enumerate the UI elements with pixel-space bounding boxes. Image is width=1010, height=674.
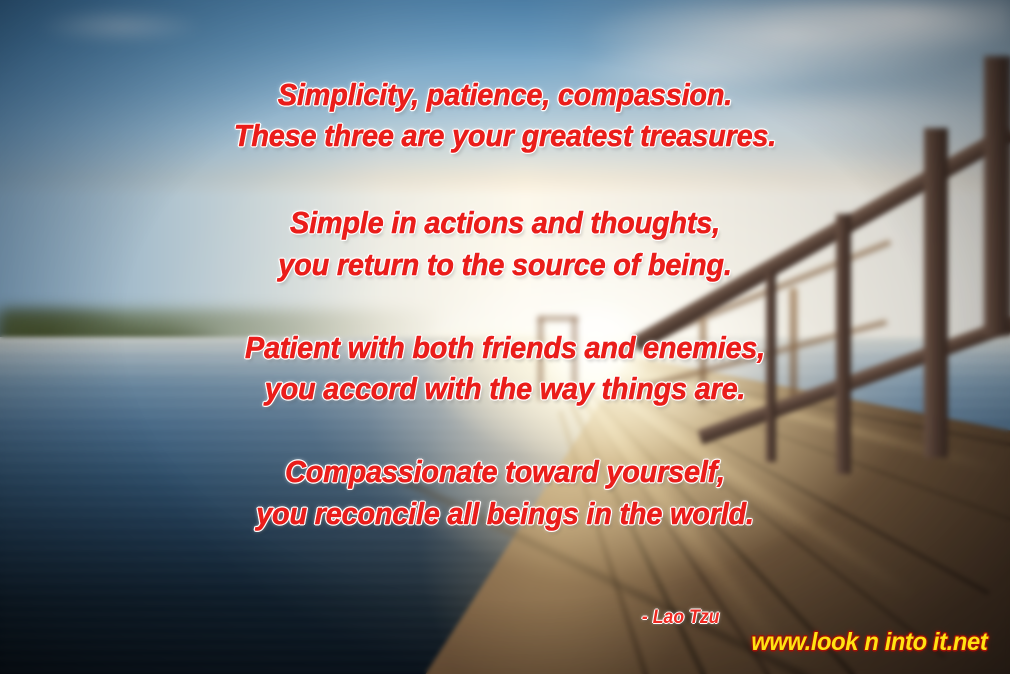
railing-far-post (700, 318, 706, 404)
ladder-top-bend (538, 316, 578, 321)
quote-attribution: - Lao Tzu (642, 607, 720, 629)
ladder-rail-left (538, 318, 543, 400)
railing-post-near (924, 128, 948, 458)
railing-post-mid (836, 214, 851, 474)
railing-far-post (790, 288, 797, 398)
sun-glow (0, 0, 1010, 674)
site-watermark[interactable]: www.look n into it.net (752, 628, 988, 657)
railing-post-edge (984, 56, 1010, 336)
quote-poster: Simplicity, patience, compassion. These … (0, 0, 1010, 674)
railing-post-far (766, 272, 776, 462)
ladder-rail-right (572, 318, 577, 402)
